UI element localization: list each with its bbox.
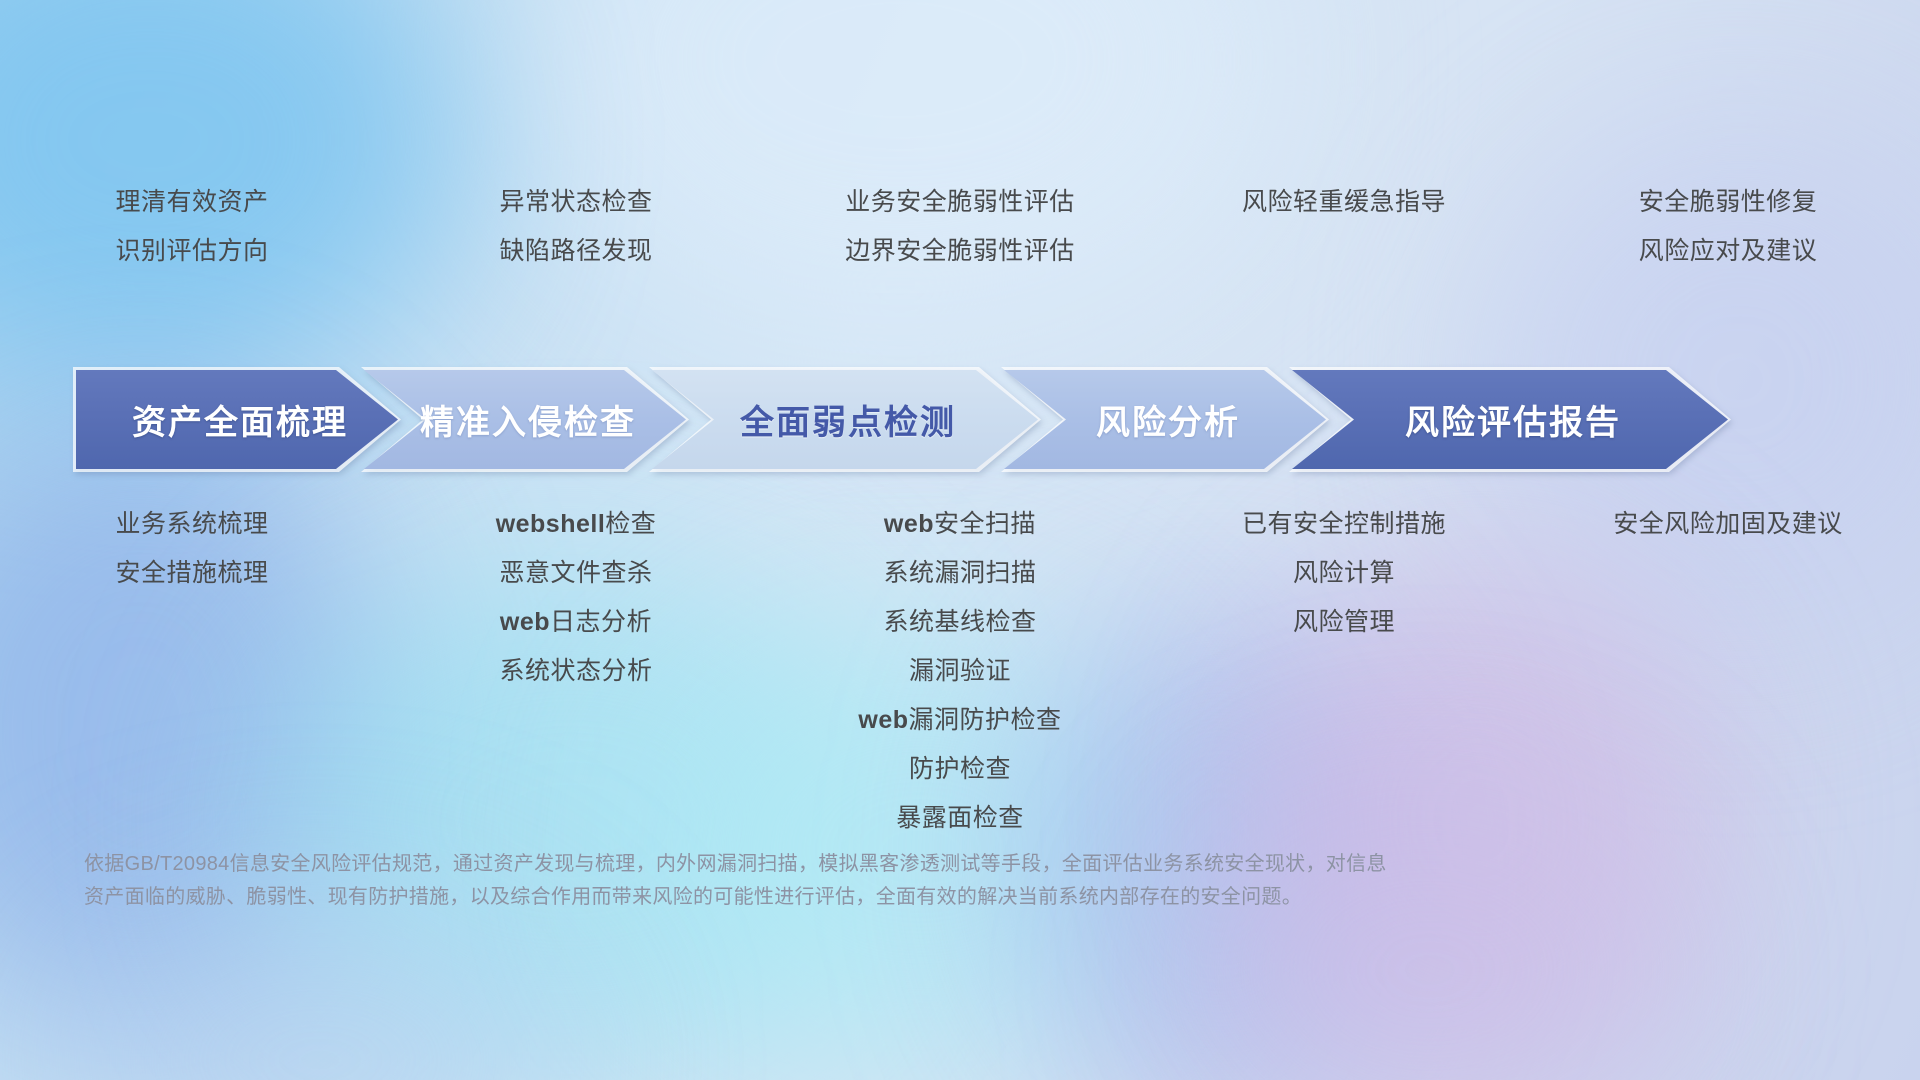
list-item: 漏洞验证 (909, 647, 1011, 696)
list-item: web漏洞防护检查 (858, 696, 1061, 745)
list-item-prefix: web (858, 706, 908, 734)
process-stage-4[interactable]: 风险分析 (1004, 370, 1326, 469)
top-label-col-1: 理清有效资产识别评估方向 (0, 178, 384, 298)
list-item: webshell检查 (496, 500, 657, 549)
footer-line-2: 资产面临的威胁、脆弱性、现有防护措施，以及综合作用而带来风险的可能性进行评估，全… (84, 881, 1444, 914)
stage-label: 精准入侵检查 (414, 395, 636, 444)
top-label-text: 安全脆弱性修复 (1639, 178, 1818, 227)
list-item-prefix: webshell (496, 510, 606, 538)
list-item: 系统基线检查 (883, 598, 1036, 647)
top-label-row: 理清有效资产识别评估方向异常状态检查缺陷路径发现业务安全脆弱性评估边界安全脆弱性… (0, 178, 1920, 298)
top-label-col-2: 异常状态检查缺陷路径发现 (384, 178, 768, 298)
footer-description: 依据GB/T20984信息安全风险评估规范，通过资产发现与梳理，内外网漏洞扫描，… (84, 848, 1444, 914)
top-label-col-4: 风险轻重缓急指导 (1152, 178, 1536, 298)
footer-line-1: 依据GB/T20984信息安全风险评估规范，通过资产发现与梳理，内外网漏洞扫描，… (84, 848, 1444, 881)
stage-label: 资产全面梳理 (126, 395, 348, 444)
top-label-text: 理清有效资产 (115, 178, 268, 227)
top-label-text: 缺陷路径发现 (499, 227, 652, 276)
list-item: 恶意文件查杀 (499, 549, 652, 598)
detail-list-col-2: webshell检查恶意文件查杀web日志分析系统状态分析 (384, 500, 768, 696)
list-item-text: 日志分析 (550, 608, 652, 636)
list-item: 安全措施梳理 (115, 549, 268, 598)
detail-list-col-4: 已有安全控制措施风险计算风险管理 (1152, 500, 1536, 647)
top-label-text: 异常状态检查 (499, 178, 652, 227)
list-item-text: 安全扫描 (934, 510, 1036, 538)
list-item-prefix: web (500, 608, 550, 636)
list-item: 已有安全控制措施 (1242, 500, 1446, 549)
list-item-text: 检查 (605, 510, 656, 538)
process-stage-3[interactable]: 全面弱点检测 (652, 370, 1038, 469)
list-item-text: 漏洞防护检查 (909, 706, 1062, 734)
process-stage-1[interactable]: 资产全面梳理 (76, 370, 398, 469)
stage-label: 全面弱点检测 (734, 395, 956, 444)
stage-label: 风险评估报告 (1399, 395, 1621, 444)
list-item: 风险管理 (1293, 598, 1395, 647)
list-item: 暴露面检查 (896, 794, 1024, 843)
top-label-col-3: 业务安全脆弱性评估边界安全脆弱性评估 (768, 178, 1152, 298)
stage-label: 风险分析 (1090, 395, 1240, 444)
top-label-text: 业务安全脆弱性评估 (845, 178, 1075, 227)
list-item: 系统漏洞扫描 (883, 549, 1036, 598)
list-item-prefix: web (884, 510, 934, 538)
top-label-text: 边界安全脆弱性评估 (845, 227, 1075, 276)
process-stage-5[interactable]: 风险评估报告 (1292, 370, 1728, 469)
list-item: 防护检查 (909, 745, 1011, 794)
detail-list-row: 业务系统梳理安全措施梳理webshell检查恶意文件查杀web日志分析系统状态分… (0, 500, 1920, 860)
list-item: web安全扫描 (884, 500, 1036, 549)
list-item: 安全风险加固及建议 (1613, 500, 1843, 549)
list-item: 系统状态分析 (499, 647, 652, 696)
top-label-text: 风险轻重缓急指导 (1242, 178, 1446, 227)
detail-list-col-1: 业务系统梳理安全措施梳理 (0, 500, 384, 598)
top-label-text: 风险应对及建议 (1639, 227, 1818, 276)
process-chevron-bar: 资产全面梳理精准入侵检查全面弱点检测风险分析风险评估报告 (76, 370, 1844, 469)
detail-list-col-3: web安全扫描系统漏洞扫描系统基线检查漏洞验证web漏洞防护检查防护检查暴露面检… (768, 500, 1152, 843)
process-stage-2[interactable]: 精准入侵检查 (364, 370, 686, 469)
top-label-text: 识别评估方向 (115, 227, 268, 276)
list-item: web日志分析 (500, 598, 652, 647)
top-label-col-5: 安全脆弱性修复风险应对及建议 (1536, 178, 1920, 298)
list-item: 业务系统梳理 (115, 500, 268, 549)
list-item: 风险计算 (1293, 549, 1395, 598)
detail-list-col-5: 安全风险加固及建议 (1536, 500, 1920, 549)
